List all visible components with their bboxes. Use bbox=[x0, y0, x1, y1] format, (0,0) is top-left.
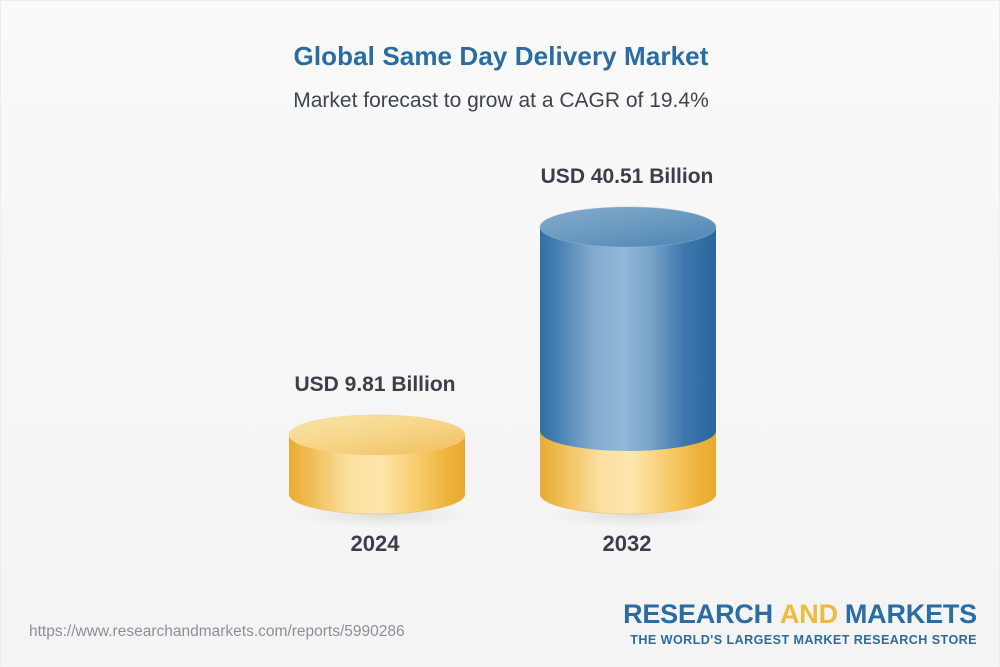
logo-word-markets: MARKETS bbox=[845, 599, 977, 629]
chart-subtitle: Market forecast to grow at a CAGR of 19.… bbox=[1, 89, 1000, 113]
logo-word-research: RESEARCH bbox=[623, 599, 773, 629]
logo-word-and: AND bbox=[780, 599, 838, 629]
research-and-markets-logo[interactable]: RESEARCHANDMARKETS THE WORLD'S LARGEST M… bbox=[623, 601, 977, 647]
bar-cylinder-2024-graphic bbox=[285, 415, 469, 523]
bar-cylinder-2032[interactable] bbox=[535, 201, 721, 523]
category-label-2032: 2032 bbox=[477, 531, 777, 557]
bar-cylinder-2032-graphic bbox=[535, 201, 721, 523]
value-label-2032: USD 40.51 Billion bbox=[477, 165, 777, 189]
source-url[interactable]: https://www.researchandmarkets.com/repor… bbox=[29, 623, 405, 641]
logo-tagline: THE WORLD'S LARGEST MARKET RESEARCH STOR… bbox=[623, 634, 977, 647]
chart-title: Global Same Day Delivery Market bbox=[1, 41, 1000, 72]
logo-wordmark: RESEARCHANDMARKETS bbox=[623, 601, 977, 628]
bar-cylinder-2024[interactable] bbox=[285, 415, 469, 523]
value-label-2024: USD 9.81 Billion bbox=[225, 373, 525, 397]
chart-canvas: Global Same Day Delivery Market Market f… bbox=[0, 0, 1000, 667]
